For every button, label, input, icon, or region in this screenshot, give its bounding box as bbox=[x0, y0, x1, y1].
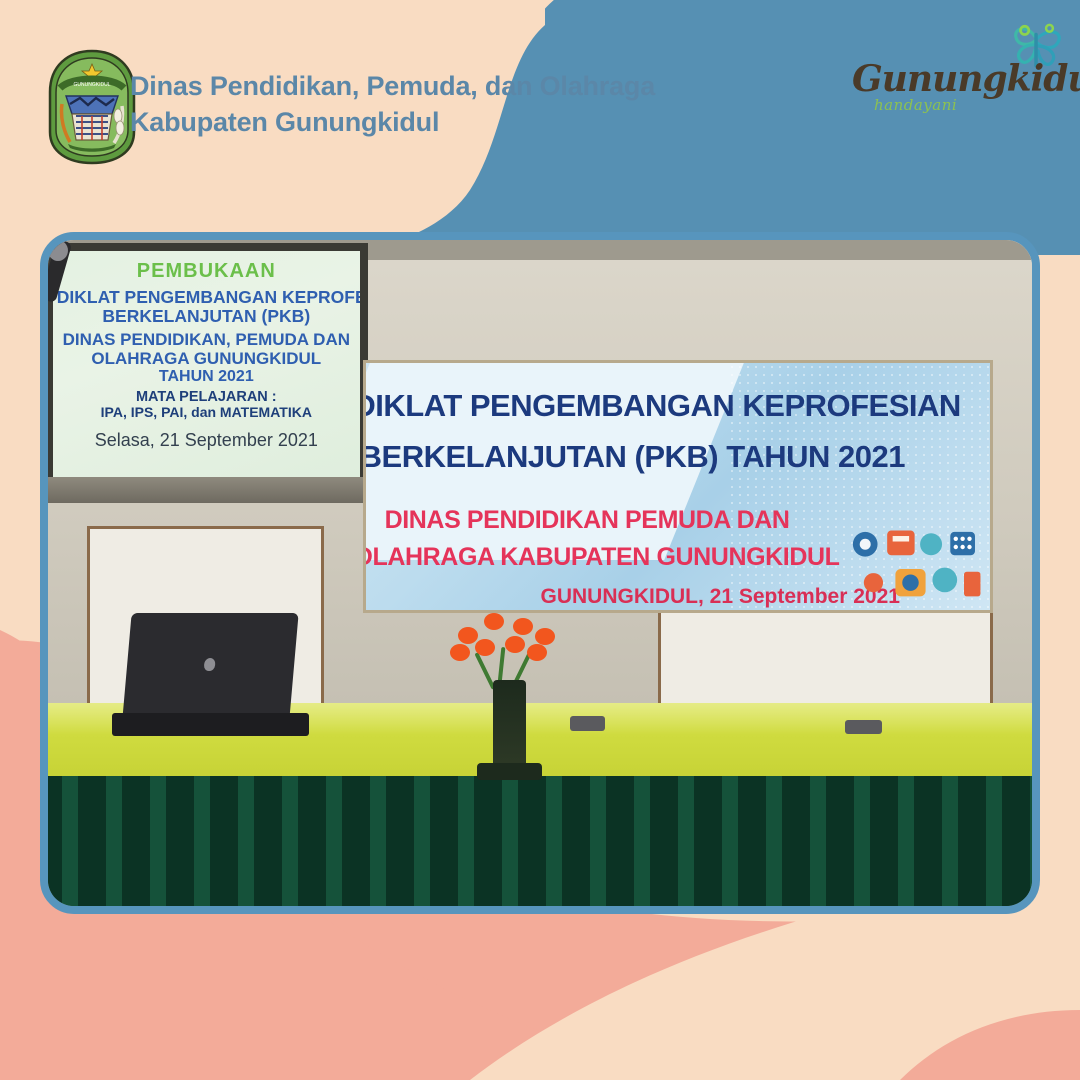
flower bbox=[513, 618, 533, 635]
org-title-line-2: Kabupaten Gunungkidul bbox=[130, 104, 650, 140]
slide-line-4: OLAHRAGA GUNUNGKIDUL bbox=[57, 349, 356, 368]
person-right-id-badge bbox=[48, 240, 50, 242]
brand-tagline: handayani bbox=[874, 96, 957, 114]
flower bbox=[505, 636, 525, 653]
smartphone-center bbox=[570, 716, 605, 731]
laptop-base bbox=[112, 713, 309, 736]
flower bbox=[475, 639, 495, 656]
slide-line-8: Selasa, 21 September 2021 bbox=[57, 430, 356, 450]
flower bbox=[484, 613, 504, 630]
page-title: Dinas Pendidikan, Pemuda, dan Olahraga K… bbox=[130, 68, 650, 140]
event-banner: DIKLAT PENGEMBANGAN KEPROFESIAN BERKELAN… bbox=[363, 360, 993, 613]
slide-line-5: TAHUN 2021 bbox=[57, 368, 356, 386]
smartphone-right bbox=[845, 720, 882, 735]
slide-line-3: DINAS PENDIDIKAN, PEMUDA DAN bbox=[57, 330, 356, 349]
laptop bbox=[122, 613, 299, 720]
laptop-logo bbox=[203, 658, 215, 671]
flower bbox=[450, 644, 470, 661]
projector-slide: PEMBUKAAN DIKLAT PENGEMBANGAN KEPROFESIA… bbox=[53, 251, 360, 477]
flower bbox=[458, 627, 478, 644]
gunungkidul-regency-crest-icon: GUNUNGKIDUL bbox=[46, 48, 138, 166]
slide-line-7: IPA, IPS, PAI, dan MATEMATIKA bbox=[57, 405, 356, 421]
flower-vase bbox=[493, 680, 526, 773]
poster-header: GUNUNGKIDUL Dinas Pendidikan, Pemuda, da… bbox=[0, 0, 1080, 200]
banner-line-4: OLAHRAGA KABUPATEN GUNUNGKIDUL bbox=[363, 543, 840, 572]
banner-graphic-icons bbox=[846, 519, 983, 608]
banner-line-3: DINAS PENDIDIKAN PEMUDA DAN bbox=[385, 506, 790, 535]
slide-line-1: DIKLAT PENGEMBANGAN KEPROFESIAN bbox=[57, 288, 356, 308]
screen-shadow bbox=[48, 477, 368, 503]
flower-vase-foot bbox=[477, 763, 542, 780]
poster-canvas: GUNUNGKIDUL Dinas Pendidikan, Pemuda, da… bbox=[0, 0, 1080, 1080]
table-skirt bbox=[48, 776, 1032, 906]
event-photo: PEMBUKAAN DIKLAT PENGEMBANGAN KEPROFESIA… bbox=[48, 240, 1032, 906]
slide-title: PEMBUKAAN bbox=[57, 260, 356, 282]
gunungkidul-brand-logo: Gunungkidul handayani bbox=[852, 36, 1062, 126]
slide-line-6: MATA PELAJARAN : bbox=[57, 389, 356, 405]
brand-wordmark: Gunungkidul bbox=[852, 58, 1030, 100]
flower bbox=[535, 628, 555, 645]
flower bbox=[527, 644, 547, 661]
event-photo-card: PEMBUKAAN DIKLAT PENGEMBANGAN KEPROFESIA… bbox=[40, 232, 1040, 914]
org-title-line-1: Dinas Pendidikan, Pemuda, dan Olahraga bbox=[130, 68, 650, 104]
banner-line-2: BERKELANJUTAN (PKB) TAHUN 2021 bbox=[363, 439, 905, 475]
social-footer: @dikpora_gk pendidikan.gunungkidulkab.go… bbox=[0, 940, 1080, 1080]
projector-screen: PEMBUKAAN DIKLAT PENGEMBANGAN KEPROFESIA… bbox=[48, 243, 368, 503]
svg-text:GUNUNGKIDUL: GUNUNGKIDUL bbox=[74, 82, 111, 88]
slide-line-2: BERKELANJUTAN (PKB) bbox=[57, 307, 356, 327]
banner-line-1: DIKLAT PENGEMBANGAN KEPROFESIAN bbox=[363, 388, 961, 424]
